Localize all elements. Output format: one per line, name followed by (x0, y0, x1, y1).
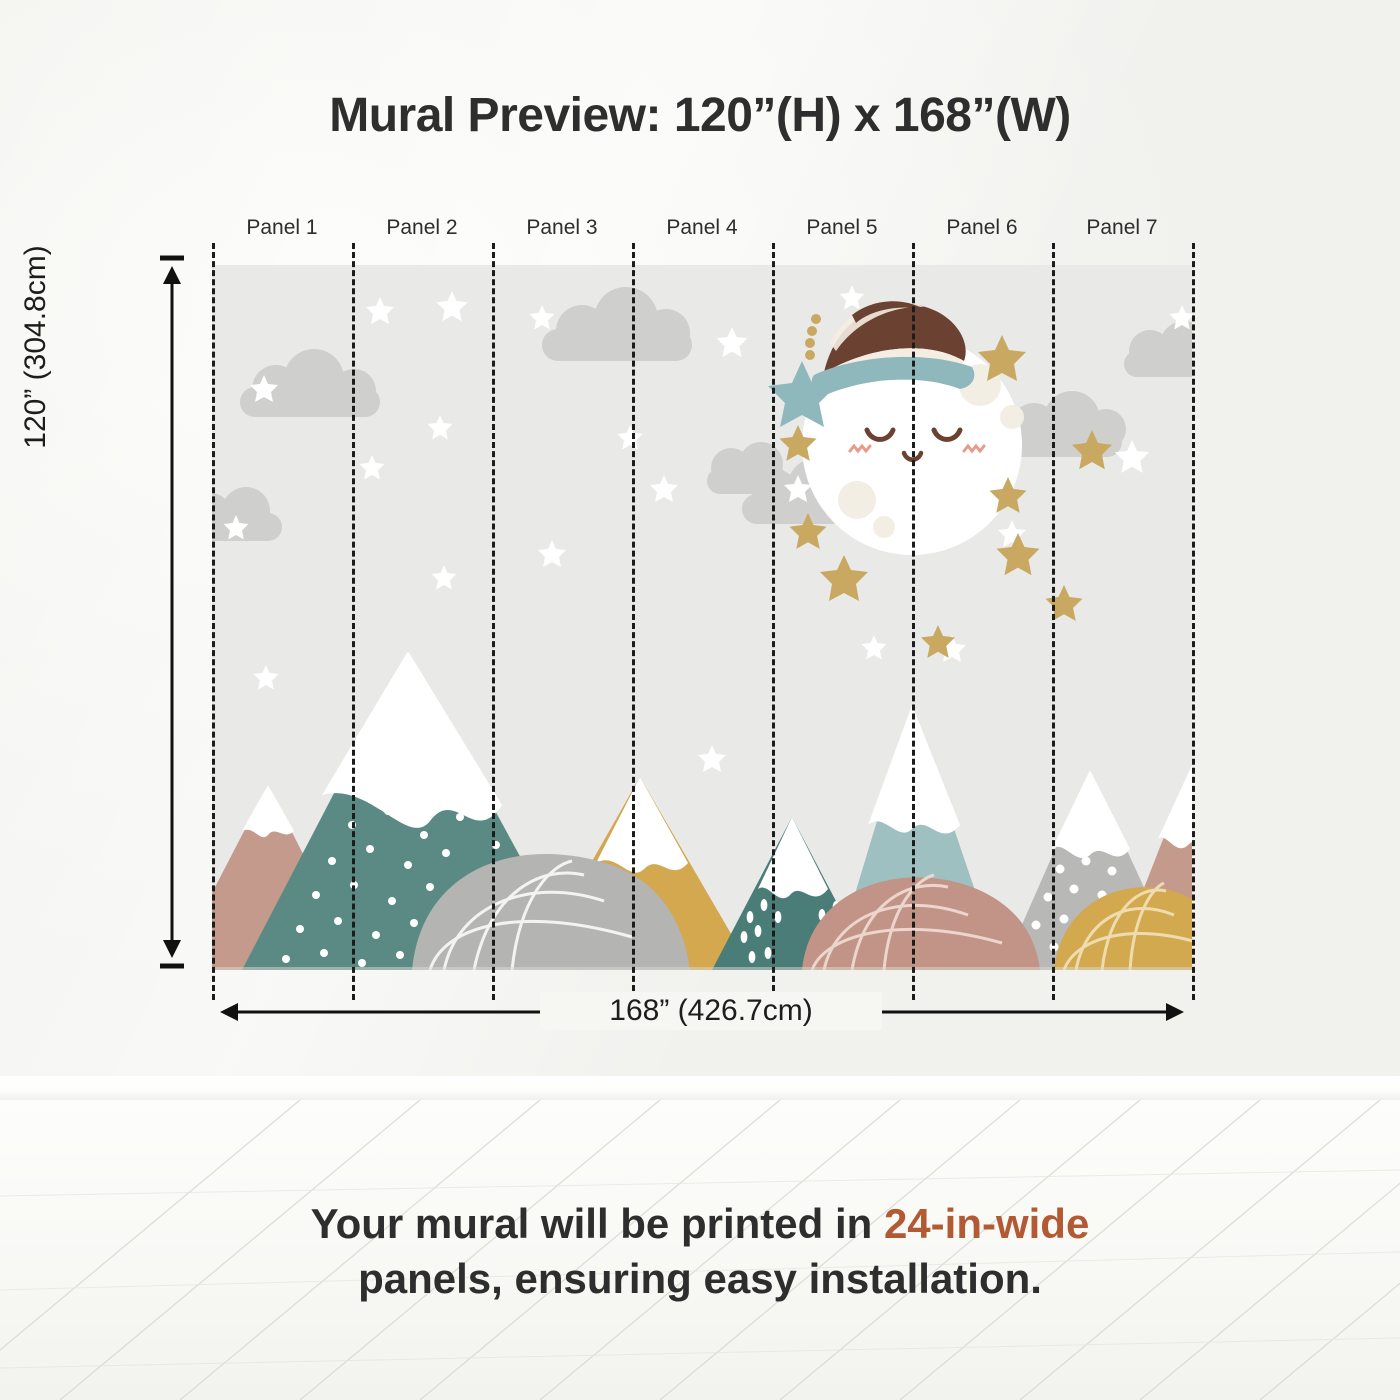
panel-label-4: Panel 4 (632, 216, 772, 246)
panel-label-3: Panel 3 (492, 216, 632, 246)
mural-artwork (212, 265, 1192, 970)
panel-divider-0 (212, 243, 215, 1000)
panel-divider-2 (492, 243, 495, 1000)
panel-divider-4 (772, 243, 775, 1000)
panel-label-5: Panel 5 (772, 216, 912, 246)
baseboard (0, 1076, 1400, 1103)
panel-divider-3 (632, 243, 635, 1000)
footer-caption: Your mural will be printed in 24-in-wide… (0, 1196, 1400, 1307)
width-dimension-label: 168” (426.7cm) (540, 992, 882, 1030)
panel-divider-7 (1192, 243, 1195, 1000)
page-title: Mural Preview: 120”(H) x 168”(W) (0, 88, 1400, 143)
height-dimension-ruler (150, 250, 194, 975)
panel-divider-5 (912, 243, 915, 1000)
height-dimension-label: 120” (304.8cm) (19, 207, 53, 487)
panel-label-row: Panel 1 Panel 2 Panel 3 Panel 4 Panel 5 … (212, 216, 1192, 246)
mural-preview-stage: Mural Preview: 120”(H) x 168”(W) Panel 1… (0, 0, 1400, 1400)
panel-label-2: Panel 2 (352, 216, 492, 246)
panel-label-1: Panel 1 (212, 216, 352, 246)
panel-label-6: Panel 6 (912, 216, 1052, 246)
caption-line-2: panels, ensuring easy installation. (0, 1251, 1400, 1306)
panel-divider-1 (352, 243, 355, 1000)
panel-label-7: Panel 7 (1052, 216, 1192, 246)
caption-line1-text: Your mural will be printed in (311, 1200, 884, 1247)
panel-divider-6 (1052, 243, 1055, 1000)
caption-highlight: 24-in-wide (884, 1200, 1089, 1247)
caption-line-1: Your mural will be printed in 24-in-wide (0, 1196, 1400, 1251)
